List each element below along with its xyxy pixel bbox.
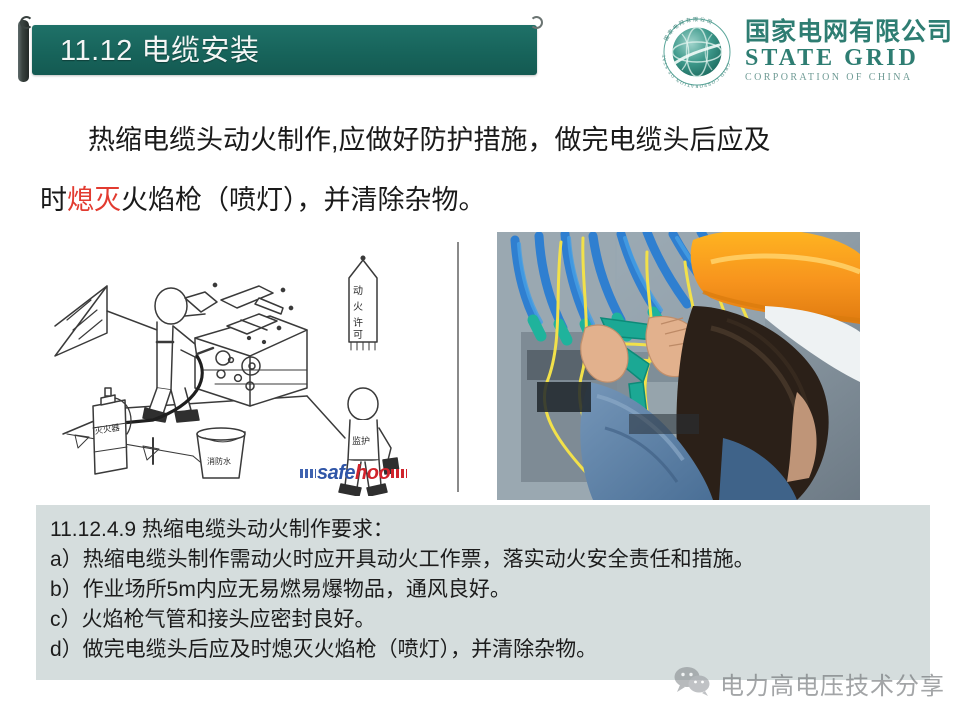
safehoo-blue-text: safe [317,462,355,485]
body-line-1: 热缩电缆头动火制作,应做好防护措施，做完电缆头后应及 [40,110,930,170]
note-line-0: 11.12.4.9 热缩电缆头动火制作要求： [50,515,930,545]
logo-wordmark: 国家电网有限公司 STATE GRID CORPORATION OF CHINA [745,19,953,84]
logo-company-sub: CORPORATION OF CHINA [745,71,953,84]
slide-title-banner: 11.12 电缆安装 [18,20,538,78]
note-line-4: d）做完电缆头后应及时熄灭火焰枪（喷灯），并清除杂物。 [50,635,930,665]
requirements-lines: 11.12.4.9 热缩电缆头动火制作要求： a）热缩电缆头制作需动火时应开具动… [36,505,930,665]
body-line-1-text: 热缩电缆头动火制作,应做好防护措施，做完电缆头后应及 [88,125,771,155]
body-highlight-text: 熄灭 [67,185,121,215]
logo-company-en: STATE GRID [745,46,953,71]
svg-text:可: 可 [353,330,363,341]
safehoo-left-dots-icon [300,469,316,478]
state-grid-globe-emblem-icon: 国家电网有限公司 GRID CORPORATION OF STATE [655,11,739,91]
safehoo-watermark: safe hoo [300,462,407,484]
scroll-curl-left-icon [20,16,33,29]
hot-work-illustration: 动 火 许 可 灭火器 消防水 监护 [45,238,457,496]
svg-text:消防水: 消防水 [207,456,231,466]
wechat-watermark-label: 电力高电压技术分享 [720,666,945,701]
body-line-2: 时熄灭火焰枪（喷灯），并清除杂物。 [40,170,930,230]
note-line-1: a）热缩电缆头制作需动火时应开具动火工作票，落实动火安全责任和措施。 [50,545,930,575]
cable-termination-photo [497,232,860,500]
svg-text:许: 许 [353,317,363,329]
page-title: 11.12 电缆安装 [60,32,530,72]
title-scroll-spine [18,20,29,82]
scroll-curl-right-icon [530,16,543,29]
body-line-2-prefix: 时 [40,185,67,215]
slide-root: 11.12 电缆安装 [0,0,960,720]
body-line-2-suffix: 火焰枪（喷灯），并清除杂物。 [121,185,486,215]
note-line-2: b）作业场所5m内应无易燃易爆物品，通风良好。 [50,575,930,605]
wechat-icon [672,666,712,701]
state-grid-logo: 国家电网有限公司 GRID CORPORATION OF STATE 国家电网有… [655,10,950,92]
safehoo-right-dots-icon [391,469,407,478]
svg-text:火: 火 [353,301,363,313]
note-line-3: c）火焰枪气管和接头应密封良好。 [50,605,930,635]
logo-company-cn: 国家电网有限公司 [745,19,953,46]
requirements-note-box: 11.12.4.9 热缩电缆头动火制作要求： a）热缩电缆头制作需动火时应开具动… [36,505,930,680]
body-paragraph: 热缩电缆头动火制作,应做好防护措施，做完电缆头后应及 时熄灭火焰枪（喷灯），并清… [40,110,930,230]
wechat-watermark: 电力高电压技术分享 [672,666,945,701]
svg-text:监护: 监护 [352,435,370,446]
safehoo-red-text: hoo [355,462,390,485]
illustration-right-rule [457,242,459,492]
svg-text:动: 动 [353,285,363,297]
